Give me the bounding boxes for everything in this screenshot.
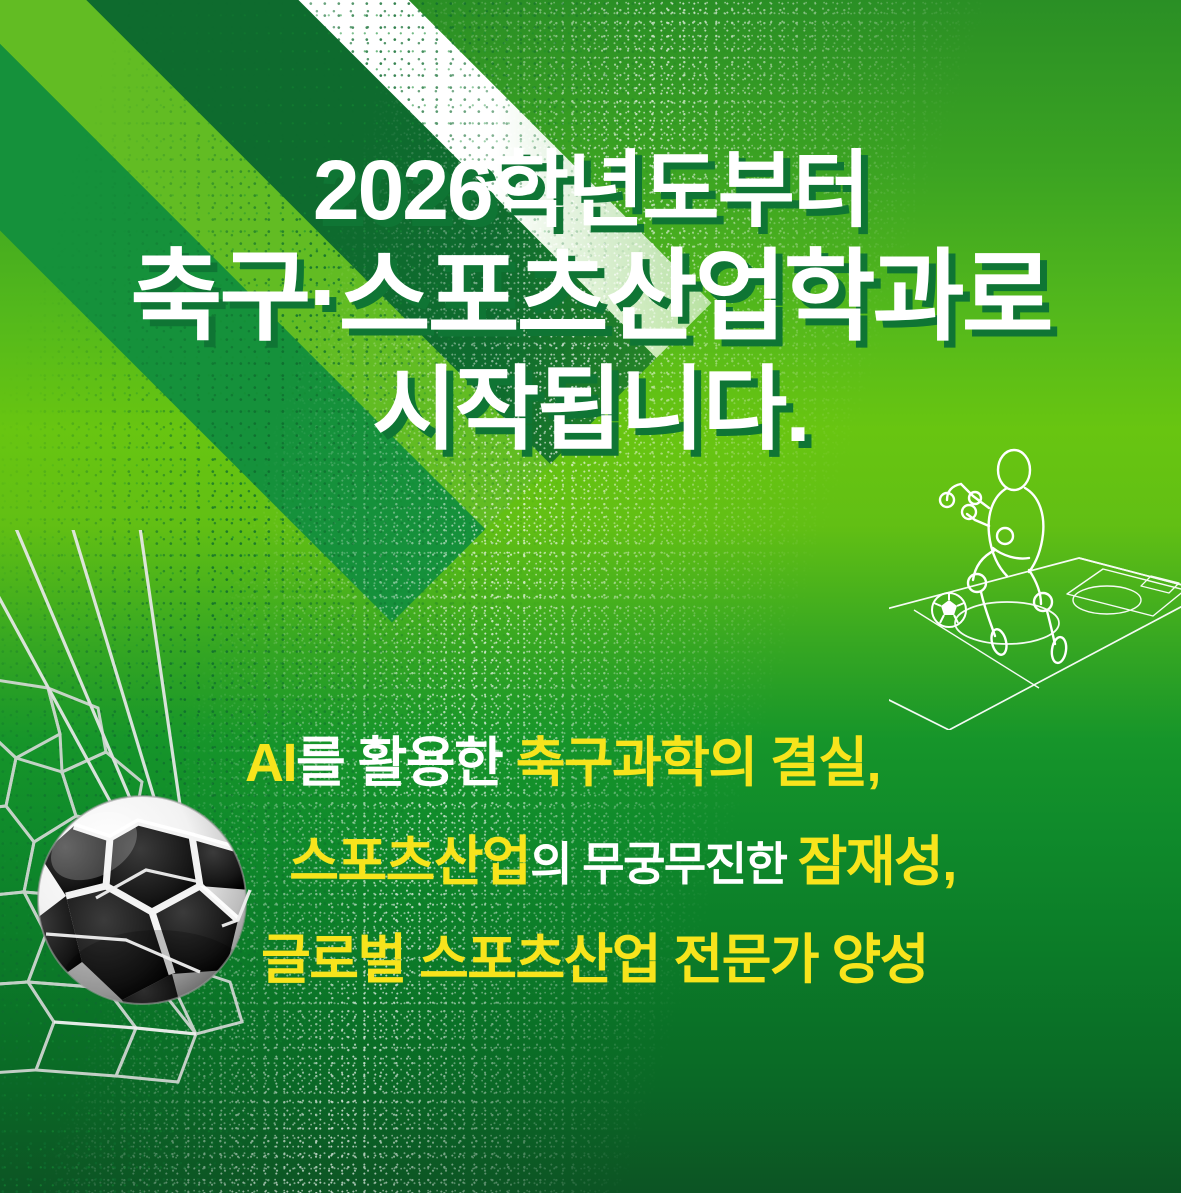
- headline-block: 2026학년도부터 축구·스포츠산업학과로 시작됩니다.: [0, 148, 1181, 458]
- headline-line-2: 축구·스포츠산업학과로: [0, 246, 1181, 348]
- body-line-1-highlight-2: 축구과학의 결실,: [516, 733, 880, 793]
- body-line-2-plain: 의 무궁무진한: [530, 838, 797, 890]
- headline-line-3: 시작됩니다.: [0, 364, 1181, 458]
- body-line-2-highlight-1: 스포츠산업: [289, 832, 530, 892]
- body-line-2-highlight-2: 잠재성,: [798, 832, 956, 892]
- soccer-ball-outline-icon: [932, 593, 966, 627]
- body-copy-block: AI를 활용한 축구과학의 결실, 스포츠산업의 무궁무진한 잠재성, 글로벌 …: [0, 735, 1181, 989]
- body-line-3: 글로벌 스포츠산업 전문가 양성: [0, 932, 1181, 989]
- poster-canvas: 2026학년도부터 축구·스포츠산업학과로 시작됩니다. AI를 활용한 축구과…: [0, 0, 1181, 1193]
- body-line-1-plain: 를 활용한: [296, 733, 516, 793]
- body-line-1-highlight-1: AI: [245, 733, 296, 793]
- headline-line-1: 2026학년도부터: [0, 148, 1181, 234]
- body-line-1: AI를 활용한 축구과학의 결실,: [0, 735, 1181, 792]
- soccer-pitch-perspective-illustration: [889, 430, 1181, 730]
- body-line-2: 스포츠산업의 무궁무진한 잠재성,: [0, 834, 1181, 891]
